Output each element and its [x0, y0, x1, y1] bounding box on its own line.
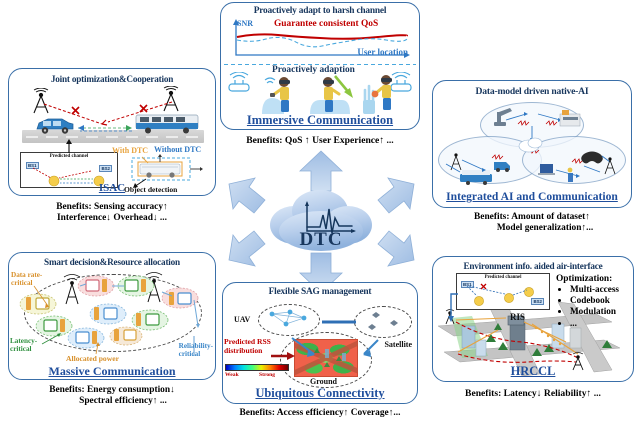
massive-name: Massive Communication — [8, 364, 216, 379]
snr-qos-line — [237, 34, 407, 38]
immersive-title: Proactively adapt to harsh channel — [224, 6, 416, 16]
hrccl-benefits-line1: Benefits: Latency↓ Reliability↑ ... — [432, 388, 634, 399]
massive-benefits-line2: Spectral efficiency↑ ... — [8, 396, 216, 407]
hrccl-benefits: Benefits: Latency↓ Reliability↑ ... — [432, 388, 634, 399]
optimization-item: Modulation — [570, 306, 619, 317]
isac-without-dtc-label: Without DTC — [154, 145, 201, 154]
panel-ubiquitous: Flexible SAG management UAV Satellite — [222, 282, 418, 424]
massive-benefits: Benefits: Energy consumption↓ Spectral e… — [8, 385, 216, 407]
panel-hrccl: Environment info. aided air-interface — [432, 256, 634, 422]
panel-native-ai: Data-model driven native-AI — [432, 80, 632, 248]
hrccl-inner-links — [457, 274, 551, 311]
vr-user-right — [360, 72, 406, 116]
native-ai-benefits-line1: Benefits: Amount of dataset↑ — [432, 212, 632, 223]
native-ai-laptop-icon — [538, 164, 555, 175]
isac-vehicle-car — [34, 114, 76, 136]
robot-hand-icon — [363, 86, 375, 114]
optimization-item: Multi-access — [570, 284, 619, 295]
hrccl-predicted-channel-box: Predicted channel BS1 BS2 — [456, 273, 550, 310]
dtc-cloud: DTC — [262, 185, 380, 257]
factory-icon — [560, 110, 580, 126]
snr-annotation: Guarantee consistent QoS — [274, 19, 378, 29]
rss-label-line2: distribution — [224, 347, 271, 356]
hrccl-title: Environment info. aided air-interface — [435, 261, 631, 271]
isac-vehicle-bus — [134, 112, 200, 136]
colorbar-strong-label: Strong — [259, 372, 275, 378]
isac-name: ISAC — [8, 182, 216, 194]
massive-title: Smart decision&Resource allocation — [11, 257, 213, 267]
dtc-label: DTC — [262, 229, 380, 251]
native-ai-benefits-line2: Model generalization↑... — [432, 223, 632, 234]
optimization-item: Codebook — [570, 295, 619, 306]
optimization-item: ... — [570, 318, 619, 329]
snr-y-axis-label: SNR — [237, 19, 253, 28]
panel-immersive: Proactively adapt to harsh channel SNR G… — [220, 2, 420, 150]
rss-colorbar — [225, 364, 289, 371]
panel-isac: Joint optimization&Cooperation — [8, 68, 216, 236]
optimization-list: Multi-access Codebook Modulation ... — [562, 284, 619, 329]
native-ai-title: Data-model driven native-AI — [436, 86, 628, 97]
hrccl-box-connector — [446, 292, 460, 324]
isac-benefits-line1: Benefits: Sensing accuracy↑ — [8, 202, 216, 213]
diagram-canvas: DTC Joint optimization&Cooperation — [0, 0, 640, 426]
panel-massive: Smart decision&Resource allocation — [8, 252, 216, 422]
arrow-downright-hrccl — [374, 228, 416, 268]
isac-title: Joint optimization&Cooperation — [12, 74, 212, 84]
ubiquitous-name: Ubiquitous Connectivity — [222, 386, 418, 401]
colorbar-weak-label: Weak — [225, 372, 239, 378]
native-ai-name: Integrated AI and Communication — [432, 190, 632, 203]
arrow-upright-native-ai — [374, 176, 416, 216]
ris-label: RIS — [510, 312, 525, 322]
immersive-benefits-line1: Benefits: QoS ↑ User Experience↑ ... — [220, 135, 420, 146]
rss-pointer-arrow — [270, 350, 296, 362]
isac-v2v-link — [74, 122, 136, 134]
router-left-icon — [226, 72, 252, 94]
optimization-title: Optimization: — [556, 274, 612, 284]
native-ai-vehicles — [460, 162, 510, 185]
massive-tag-leaders — [8, 272, 216, 364]
isac-benefits: Benefits: Sensing accuracy↑ Interference… — [8, 202, 216, 224]
massive-benefits-line1: Benefits: Energy consumption↓ — [8, 385, 216, 396]
native-ai-benefits: Benefits: Amount of dataset↑ Model gener… — [432, 212, 632, 234]
hrccl-name: HRCCL — [432, 364, 634, 379]
isac-inner-box-pointer — [64, 138, 74, 154]
rss-label: Predicted RSS distribution — [224, 338, 271, 355]
native-ai-gamepad-icon — [581, 152, 603, 164]
robot-arm-icon — [494, 108, 512, 126]
ubiquitous-title: Flexible SAG management — [226, 287, 414, 297]
native-ai-scene — [432, 98, 632, 190]
native-ai-tower-right — [605, 158, 615, 174]
snr-x-axis-label: User location — [357, 47, 408, 57]
isac-benefits-line2: Interference↓ Overhead↓ ... — [8, 213, 216, 224]
vr-user-center — [308, 74, 354, 116]
immersive-name: Immersive Communication — [220, 113, 420, 128]
vr-user-left — [258, 74, 300, 116]
immersive-benefits: Benefits: QoS ↑ User Experience↑ ... — [220, 135, 420, 146]
ubiquitous-benefits: Benefits: Access efficiency↑ Coverage↑..… — [222, 408, 418, 419]
ubiquitous-benefits-line1: Benefits: Access efficiency↑ Coverage↑..… — [222, 408, 418, 419]
